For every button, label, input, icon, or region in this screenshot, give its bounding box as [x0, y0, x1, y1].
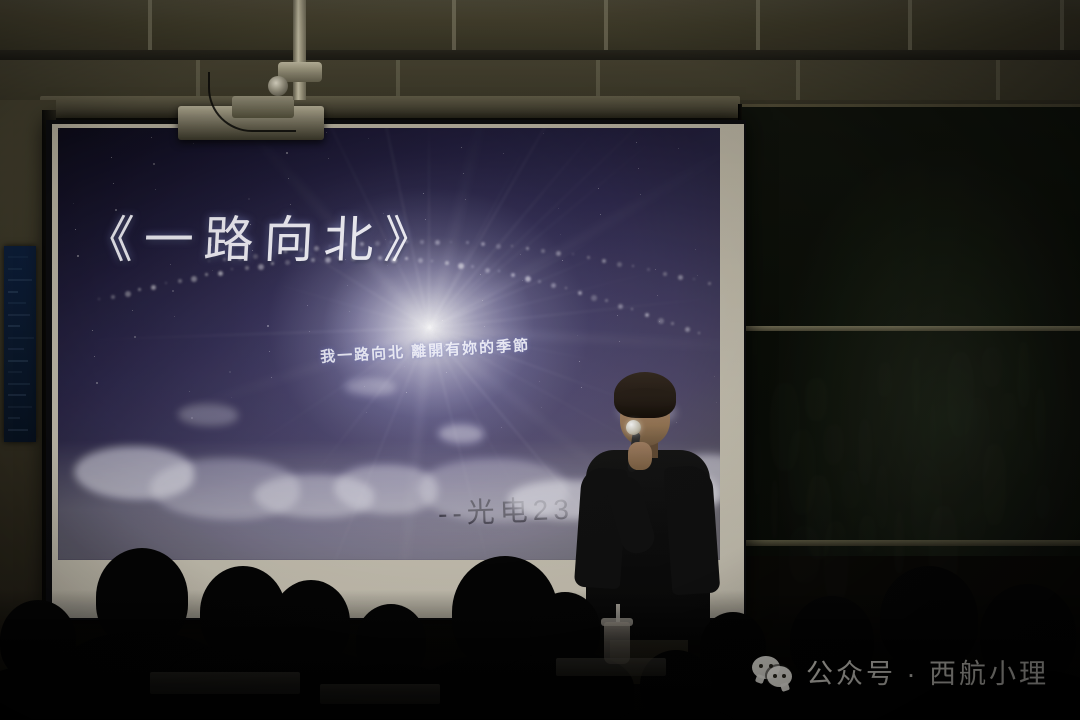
slide-bokeh-light	[496, 244, 501, 249]
slide-bokeh-light	[125, 291, 131, 297]
poster-text-line	[8, 348, 24, 350]
slide-star	[659, 321, 660, 322]
slide-bokeh-light	[645, 313, 649, 317]
slide-star	[193, 143, 194, 144]
ceiling-grid-upper	[0, 0, 1080, 52]
slide-bokeh-light	[178, 279, 182, 283]
slide-bokeh-light	[498, 270, 500, 272]
slide-bokeh-light	[663, 272, 667, 276]
slide-star	[619, 341, 620, 342]
blackboard-chalk-smudge	[1036, 485, 1050, 519]
slide-star	[655, 269, 656, 270]
blackboard-chalk-smudge	[752, 337, 758, 357]
slide-star	[539, 381, 540, 382]
slide-star	[520, 254, 521, 255]
slide-star	[288, 178, 289, 179]
slide-star	[425, 219, 426, 220]
poster-text-line	[8, 360, 28, 362]
slide-bokeh-light	[587, 256, 590, 259]
slide-bokeh-light	[538, 280, 541, 283]
slide-star	[543, 133, 544, 134]
slide-bokeh-light	[284, 250, 287, 253]
slide-bokeh-light	[191, 276, 197, 282]
slide-bokeh-light	[481, 242, 485, 246]
slide-star	[579, 361, 580, 362]
slide-star	[328, 158, 329, 159]
slide-star	[248, 198, 250, 200]
slide-star	[134, 336, 136, 338]
poster-text-line	[8, 325, 20, 327]
slide-star	[170, 264, 171, 265]
microphone-head	[626, 420, 641, 435]
wechat-dot	[773, 674, 777, 678]
blackboard-chalk-smudge	[753, 434, 762, 495]
blackboard-chalk-smudge	[1017, 342, 1030, 407]
slide-star	[111, 157, 112, 158]
slide-snow-cloud	[438, 424, 484, 444]
slide-bokeh-light	[238, 256, 242, 260]
slide-star	[366, 412, 367, 413]
blackboard-chalk-smudge	[930, 403, 936, 461]
slide-star	[636, 142, 637, 143]
slide-bokeh-light	[591, 295, 597, 301]
slide-bokeh-light	[223, 258, 226, 261]
slide-star	[697, 275, 698, 276]
slide-star	[77, 255, 79, 257]
slide-star	[210, 244, 212, 246]
slide-star	[345, 259, 346, 260]
slide-bokeh-light	[526, 247, 529, 250]
slide-bokeh-light	[565, 287, 567, 289]
blackboard-chalk-smudge	[877, 362, 892, 397]
slide-star	[503, 153, 504, 154]
slide-bokeh-light	[208, 260, 210, 262]
slide-bokeh-light	[485, 268, 490, 273]
slide-star	[271, 377, 272, 378]
slide-bokeh-light	[165, 282, 167, 284]
slide-light-ray	[428, 128, 430, 328]
slide-star	[560, 234, 561, 235]
slide-star	[638, 168, 639, 169]
slide-bokeh-light	[390, 241, 392, 243]
slide-star	[132, 310, 133, 311]
slide-star	[113, 183, 114, 184]
blackboard-chalk-smudge	[983, 444, 1006, 525]
blackboard-chalk-smudge	[1018, 439, 1034, 475]
photo-scene: 《一路向北》 我一路向北 離開有妳的季節 --光电23	[0, 0, 1080, 720]
poster-text-line	[8, 417, 20, 419]
slide-star	[541, 407, 542, 408]
slide-star	[155, 189, 156, 190]
slide-bokeh-light	[205, 273, 208, 276]
slide-star	[73, 203, 74, 204]
slide-star	[189, 391, 190, 392]
slide-star	[174, 316, 175, 317]
slide-bokeh-light	[525, 276, 531, 282]
slide-bokeh-light	[466, 241, 469, 244]
poster-text-line	[8, 256, 28, 258]
slide-bokeh-light	[618, 304, 623, 309]
slide-star	[387, 265, 388, 266]
slide-bokeh-light	[617, 262, 622, 267]
slide-bokeh-light	[258, 264, 264, 270]
slide-star	[562, 260, 563, 261]
slide-star	[326, 132, 327, 133]
slide-star	[444, 346, 445, 347]
slide-star	[423, 193, 424, 194]
slide-star	[678, 148, 679, 149]
slide-bokeh-light	[391, 257, 397, 263]
slide-star	[347, 285, 348, 286]
slide-bokeh-light	[111, 295, 115, 299]
slide-bokeh-light	[245, 266, 249, 270]
poster-text-line	[8, 406, 32, 408]
poster-text-line	[8, 268, 22, 270]
slide-bokeh-light	[578, 291, 582, 295]
slide-star	[286, 152, 288, 154]
slide-star	[250, 224, 251, 225]
slide-star	[75, 229, 76, 230]
slide-star	[577, 335, 578, 336]
slide-bokeh-light	[329, 245, 331, 247]
slide-star	[600, 214, 601, 215]
slide-bokeh-light	[138, 288, 141, 291]
slide-star	[290, 204, 291, 205]
slide-bokeh-light	[151, 285, 156, 290]
slide-star	[252, 250, 253, 251]
slide-star	[640, 194, 641, 195]
slide-bokeh-light	[572, 253, 574, 255]
slide-star	[465, 199, 466, 200]
slide-bokeh-light	[325, 257, 331, 263]
slide-star	[657, 295, 658, 296]
blackboard-chalk-smudge	[1035, 388, 1046, 451]
blackboard-chalk-smudge	[789, 526, 820, 583]
slide-star	[383, 213, 384, 214]
slide-star	[309, 331, 310, 332]
blackboard-chalk-smudge	[771, 480, 778, 539]
blackboard-chalk-smudge	[841, 470, 860, 509]
slide-star	[307, 305, 308, 306]
slide-star	[58, 128, 60, 130]
slide-bokeh-light	[671, 322, 674, 325]
slide-snow-cloud	[344, 378, 396, 396]
slide-bokeh-light	[98, 298, 100, 300]
slide-star	[151, 137, 152, 138]
blackboard-rail-upper	[742, 326, 1080, 331]
slide-bokeh-light	[269, 252, 271, 254]
watermark-text: 公众号 · 西航小理	[806, 652, 1049, 691]
slide-star	[404, 366, 405, 367]
slide-star	[368, 138, 369, 139]
slide-light-ray	[76, 327, 429, 341]
slide-bokeh-light	[218, 271, 223, 276]
slide-star	[480, 274, 481, 275]
slide-bokeh-light	[685, 327, 690, 332]
slide-star	[484, 326, 485, 327]
slide-bokeh-light	[511, 245, 513, 247]
wechat-dot	[782, 674, 786, 678]
slide-bokeh-light	[365, 256, 367, 258]
blackboard-rail-lower	[742, 540, 1080, 546]
slide-star	[501, 427, 502, 428]
slide-star	[695, 249, 696, 250]
slide-star	[269, 351, 270, 352]
poster-text-line	[8, 314, 30, 316]
blackboard-chalk-smudge	[876, 465, 888, 529]
slide-bokeh-light	[299, 248, 303, 252]
blackboard-chalk-smudge	[1000, 393, 1018, 431]
slide-bokeh-light	[678, 275, 683, 280]
slide-star	[442, 320, 443, 321]
slide-bokeh-light	[360, 242, 364, 246]
slide-star	[349, 311, 350, 312]
slide-star	[115, 209, 117, 211]
slide-bokeh-light	[708, 282, 711, 285]
poster-text-line	[8, 279, 32, 281]
presenter-shoulder-right	[664, 464, 721, 595]
slide-star	[212, 270, 213, 271]
slide-bokeh-light	[471, 265, 474, 268]
watermark: 公众号 · 西航小理	[752, 652, 1049, 691]
slide-bokeh-light	[698, 332, 700, 334]
wall-poster	[4, 246, 36, 442]
wechat-dot	[759, 664, 763, 668]
slide-bokeh-light	[551, 283, 556, 288]
poster-text-line	[8, 291, 18, 293]
slide-star	[463, 173, 464, 174]
slide-star	[92, 330, 93, 331]
slide-bokeh-light	[693, 278, 695, 280]
slide-star	[461, 147, 462, 148]
slide-star	[229, 371, 231, 373]
slide-star	[406, 392, 407, 393]
slide-star	[172, 290, 174, 292]
blackboard-chalk-smudge	[859, 516, 876, 553]
blackboard-chalk-smudge	[858, 419, 872, 485]
projector-lens	[268, 76, 288, 96]
slide-star	[446, 372, 447, 373]
blackboard-chalk-smudge	[964, 501, 986, 543]
slide-bokeh-light	[602, 259, 606, 263]
wechat-bubble-small	[767, 666, 792, 687]
slide-snow-cloud	[178, 404, 238, 426]
poster-text-line	[8, 429, 28, 431]
poster-text-line	[8, 383, 30, 385]
poster-text-line	[8, 394, 26, 396]
slide-star	[231, 397, 232, 398]
poster-text-line	[8, 302, 26, 304]
poster-text-line	[8, 371, 22, 373]
poster-text-line	[8, 337, 34, 339]
blackboard-chalk-smudge	[823, 424, 844, 465]
blackboard-chalk-smudge	[805, 378, 828, 421]
blackboard-chalk-smudge	[912, 357, 920, 417]
slide-bokeh-light	[631, 308, 633, 310]
slide-star	[617, 315, 618, 316]
slide-star	[598, 188, 599, 189]
slide-bokeh-light	[556, 251, 561, 256]
slide-star	[558, 208, 559, 209]
slide-star	[94, 356, 95, 357]
slide-star	[153, 163, 155, 165]
presenter-hair-fringe	[614, 388, 676, 408]
slide-star	[522, 280, 523, 281]
blackboard-chalk-smudge	[982, 347, 1002, 387]
slide-bokeh-light	[632, 265, 634, 267]
presenter-hand	[628, 442, 652, 470]
slide-bokeh-light	[605, 299, 608, 302]
slide-star	[482, 300, 483, 301]
slide-star	[385, 239, 386, 240]
slide-bokeh-light	[541, 249, 545, 253]
wechat-icon	[752, 656, 794, 688]
slide-star	[267, 325, 269, 327]
slide-star	[96, 382, 98, 384]
